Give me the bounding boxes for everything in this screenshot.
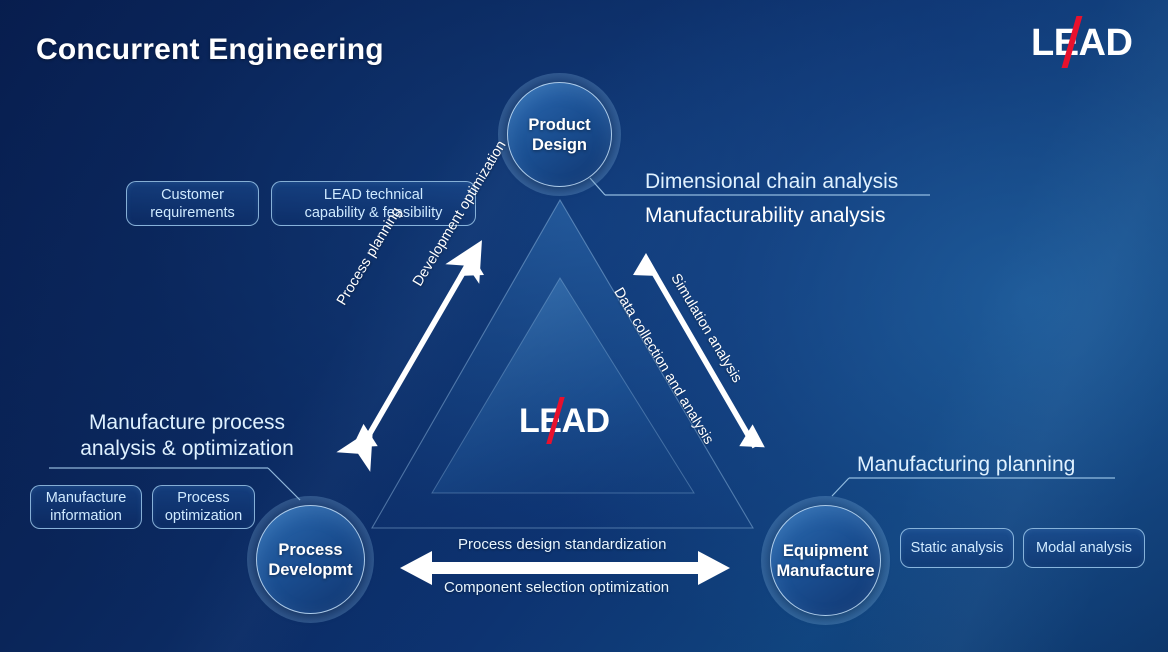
node-equipment-manufacture[interactable]: Equipment Manufacture (761, 496, 890, 625)
lead-logo-text: LEAD (519, 402, 610, 440)
pill-customer-requirements[interactable]: Customer requirements (126, 181, 259, 226)
pill-line1: Modal analysis (1036, 539, 1132, 557)
pill-text: Process optimization (165, 489, 242, 525)
pill-line1: LEAD technical (324, 187, 423, 203)
lead-logo-text: LEAD (1031, 22, 1132, 64)
arrow-left-diagonal (0, 0, 484, 458)
lead-logo-center: LEAD (519, 404, 610, 438)
node-product-design-label: Product Design (528, 115, 590, 155)
node-label-line1: Equipment (783, 542, 868, 560)
page-title: Concurrent Engineering (36, 33, 384, 67)
callout-line1: Manufacture process (89, 411, 285, 434)
slide-canvas: Concurrent Engineering LEAD LEAD Product… (0, 0, 1168, 652)
pill-manufacture-information[interactable]: Manufacture information (30, 485, 142, 529)
pill-line1: Customer (161, 187, 224, 203)
pill-line1: Static analysis (911, 539, 1004, 557)
arrow-label-component-selection-optimization: Component selection optimization (444, 579, 669, 596)
pill-text: Customer requirements (150, 186, 235, 222)
callout-line2: analysis & optimization (80, 437, 294, 460)
pill-modal-analysis[interactable]: Modal analysis (1023, 528, 1145, 568)
node-equipment-manufacture-label: Equipment Manufacture (776, 541, 874, 581)
node-label-line1: Process (278, 541, 342, 559)
node-process-development-label: Process Developmt (268, 540, 352, 580)
lead-logo-top-right: LEAD (1031, 24, 1132, 62)
arrow-label-simulation-analysis: Simulation analysis (667, 271, 745, 386)
inner-triangle (432, 278, 694, 493)
pill-line2: capability & feasibility (305, 205, 443, 221)
pill-text: LEAD technical capability & feasibility (305, 186, 443, 222)
callout-manufacturability-analysis: Manufacturability analysis (645, 199, 885, 233)
callout-manufacturing-planning: Manufacturing planning (857, 448, 1075, 482)
node-product-design[interactable]: Product Design (498, 73, 621, 196)
node-label-line1: Product (528, 116, 590, 134)
pill-static-analysis[interactable]: Static analysis (900, 528, 1014, 568)
node-label-line2: Manufacture (776, 562, 874, 580)
node-label-line2: Design (532, 136, 587, 154)
pill-line2: requirements (150, 205, 235, 221)
pill-line2: information (50, 508, 122, 524)
pill-process-optimization[interactable]: Process optimization (152, 485, 255, 529)
callout-manufacture-process-analysis: Manufacture process analysis & optimizat… (57, 410, 317, 462)
pill-lead-technical-capability[interactable]: LEAD technical capability & feasibility (271, 181, 476, 226)
pill-line1: Process (177, 490, 229, 506)
node-process-development[interactable]: Process Developmt (247, 496, 374, 623)
pill-text: Manufacture information (46, 489, 127, 525)
callout-dimensional-chain-analysis: Dimensional chain analysis (645, 165, 898, 199)
pill-line1: Manufacture (46, 490, 127, 506)
pill-line2: optimization (165, 508, 242, 524)
arrow-label-process-design-standardization: Process design standardization (458, 536, 666, 553)
node-label-line2: Developmt (268, 561, 352, 579)
